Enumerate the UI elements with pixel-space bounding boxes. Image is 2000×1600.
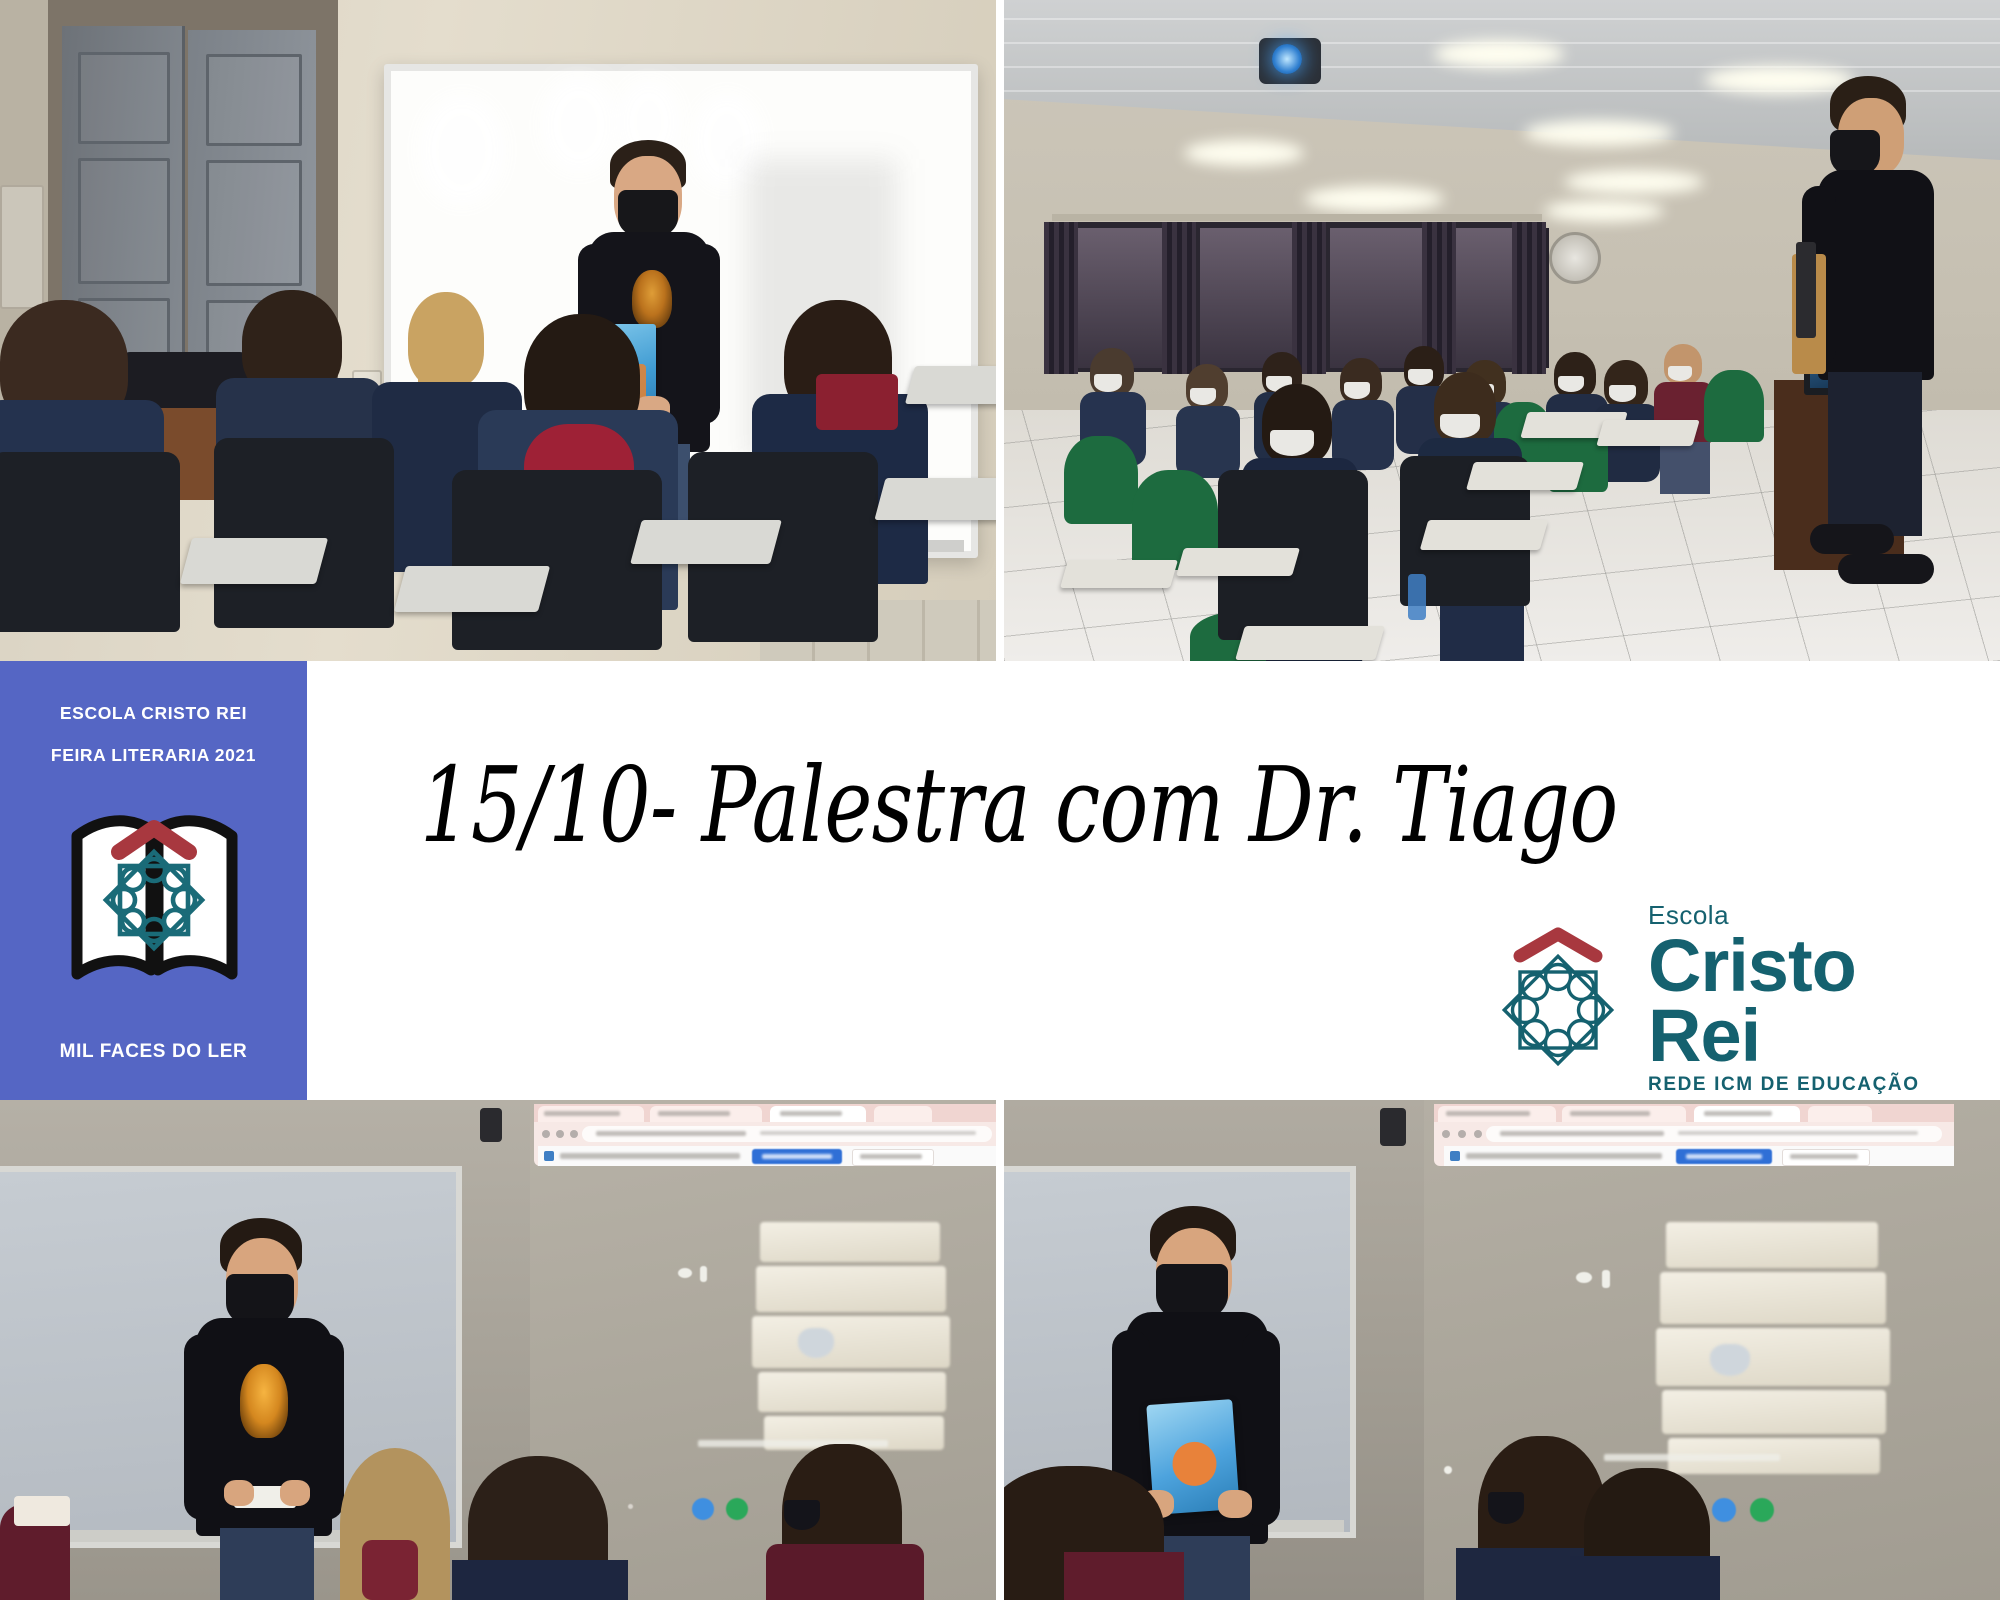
desk-arm	[394, 566, 550, 612]
speaker-figure	[1804, 76, 1974, 596]
student-body	[1064, 1552, 1184, 1600]
desk-arm	[874, 478, 996, 520]
logo-wordmark: Escola Cristo Rei REDE ICM DE EDUCAÇÃO	[1648, 902, 1960, 1093]
desk-arm	[1176, 548, 1300, 576]
taskbar-dot-blue	[692, 1498, 714, 1520]
projected-book	[1660, 1272, 1886, 1324]
logo-school-name: Cristo Rei	[1648, 931, 1960, 1070]
shoe	[1810, 524, 1894, 554]
panel-event-name: FEIRA LITERARIA 2021	[0, 745, 307, 766]
cristo-rei-star-mandala-icon	[1490, 922, 1626, 1074]
desk-arm	[1060, 560, 1178, 588]
projector-lens-icon	[1272, 44, 1302, 74]
jeans	[220, 1528, 314, 1600]
speaker-figure	[186, 1218, 366, 1600]
book-cover-circle	[1171, 1440, 1218, 1487]
ceiling-light	[1434, 40, 1564, 68]
desk-arm	[1596, 420, 1699, 446]
desk-arm	[1420, 520, 1549, 550]
desk-arm	[180, 538, 328, 584]
chair-back	[214, 438, 394, 628]
owl-graphic-icon	[632, 270, 672, 328]
projected-book	[1662, 1390, 1886, 1434]
taskbar-dot-green	[726, 1498, 748, 1520]
projected-heart	[798, 1328, 834, 1358]
share-icon	[1450, 1151, 1460, 1161]
wall-speaker	[480, 1108, 502, 1142]
ceiling-light	[1524, 120, 1674, 146]
curtain-rail	[1052, 214, 1542, 221]
photo-top-left	[0, 0, 996, 661]
classroom-whiteboard-scene	[0, 0, 996, 661]
shoe	[1838, 554, 1934, 584]
door-panel	[206, 54, 302, 146]
projected-browser-window	[534, 1104, 996, 1166]
chair-back	[0, 452, 180, 632]
student-collar	[362, 1540, 418, 1600]
face-mask	[1488, 1492, 1524, 1524]
taskbar-dot-blue	[1712, 1498, 1736, 1522]
paper	[14, 1496, 70, 1526]
student-scarf	[816, 374, 898, 430]
logo-tagline: REDE ICM DE EDUCAÇÃO	[1648, 1075, 1960, 1094]
hand-right	[280, 1480, 310, 1506]
open-book-with-mandala-icon	[67, 784, 242, 989]
taskbar-dot-green	[1750, 1498, 1774, 1522]
wall-fan-icon	[1549, 232, 1601, 284]
wall-speaker	[1380, 1108, 1406, 1146]
photo-top-right	[1004, 0, 2000, 661]
browser-tab	[1808, 1106, 1872, 1122]
face-mask	[618, 190, 678, 238]
wide-classroom-scene	[1004, 0, 2000, 661]
student-body	[766, 1544, 924, 1600]
green-chair	[1704, 370, 1764, 442]
light-glare	[419, 95, 505, 205]
projected-book	[752, 1316, 950, 1368]
projected-heart	[1710, 1344, 1750, 1376]
door-panel	[78, 158, 170, 284]
ceiling-light	[1544, 200, 1664, 222]
panel-theme: MIL FACES DO LER	[0, 1041, 307, 1063]
ceiling-light	[1184, 140, 1304, 166]
projected-book	[1656, 1328, 1890, 1386]
photo-bottom-left	[0, 1100, 996, 1600]
notebook	[1796, 242, 1816, 338]
browser-tab	[874, 1106, 932, 1122]
desk-arm	[630, 520, 782, 564]
projected-book	[756, 1266, 946, 1312]
share-icon	[544, 1151, 554, 1161]
photo-bottom-right	[1004, 1100, 2000, 1600]
pants	[1828, 372, 1922, 536]
projected-book	[1666, 1222, 1878, 1268]
ceiling-light	[1564, 170, 1704, 194]
desk-arm	[1466, 462, 1584, 490]
student-body	[1570, 1556, 1720, 1600]
window	[1200, 228, 1299, 368]
desk-arm	[905, 366, 996, 404]
door-panel	[206, 160, 302, 286]
window	[1070, 228, 1169, 368]
green-chair	[1064, 436, 1138, 524]
desk-arm	[1235, 626, 1385, 660]
projected-book	[758, 1372, 946, 1412]
face-mask	[784, 1500, 820, 1530]
speaker-holding-book-scene	[1004, 1100, 2000, 1600]
ceiling-light	[1304, 186, 1444, 212]
projected-book	[760, 1222, 940, 1262]
poster-canvas: ESCOLA CRISTO REI FEIRA LITERARIA 2021	[0, 0, 2000, 1600]
speaker-with-projection-scene	[0, 1100, 996, 1600]
student-body	[452, 1560, 628, 1600]
school-logo: Escola Cristo Rei REDE ICM DE EDUCAÇÃO	[1490, 918, 1960, 1078]
projected-browser-window	[1434, 1104, 1954, 1166]
door-panel	[78, 52, 170, 144]
page-title: 15/10- Palestra com Dr. Tiago	[420, 745, 1200, 875]
arm-right	[308, 1334, 344, 1520]
hand-right	[1218, 1490, 1252, 1518]
wall-unit	[0, 185, 44, 309]
panel-school-name: ESCOLA CRISTO REI	[0, 703, 307, 724]
hand-left	[224, 1480, 254, 1506]
owl-graphic-icon	[240, 1364, 288, 1438]
arm-left	[184, 1334, 220, 1520]
water-bottle	[1408, 574, 1426, 620]
arm-right	[686, 244, 720, 424]
